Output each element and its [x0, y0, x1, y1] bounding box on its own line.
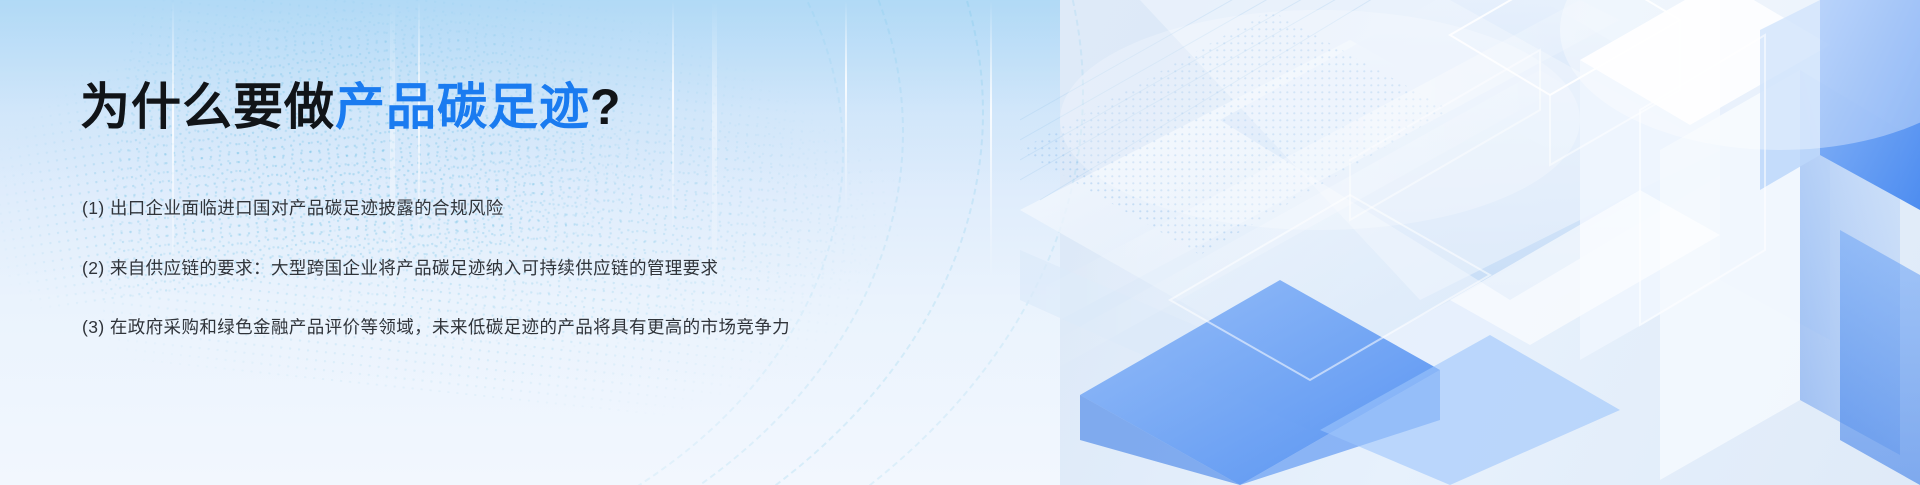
reason-item-2: (2) 来自供应链的要求：大型跨国企业将产品碳足迹纳入可持续供应链的管理要求 — [82, 260, 942, 278]
title-lead: 为什么要做 — [80, 79, 335, 135]
reason-item-1: (1) 出口企业面临进口国对产品碳足迹披露的合规风险 — [82, 200, 942, 218]
banner-content: 为什么要做产品碳足迹? (1) 出口企业面临进口国对产品碳足迹披露的合规风险 (… — [0, 0, 1000, 485]
page-title: 为什么要做产品碳足迹? — [80, 82, 622, 132]
hero-banner: 为什么要做产品碳足迹? (1) 出口企业面临进口国对产品碳足迹披露的合规风险 (… — [0, 0, 1920, 485]
title-question-mark: ? — [590, 79, 622, 135]
crystal-blocks-svg — [1020, 0, 1920, 485]
reason-list: (1) 出口企业面临进口国对产品碳足迹披露的合规风险 (2) 来自供应链的要求：… — [82, 200, 942, 337]
reason-item-3: (3) 在政府采购和绿色金融产品评价等领域，未来低碳足迹的产品将具有更高的市场竞… — [82, 319, 942, 337]
title-highlight: 产品碳足迹 — [335, 79, 590, 135]
isometric-crystal-graphic — [1020, 0, 1920, 485]
